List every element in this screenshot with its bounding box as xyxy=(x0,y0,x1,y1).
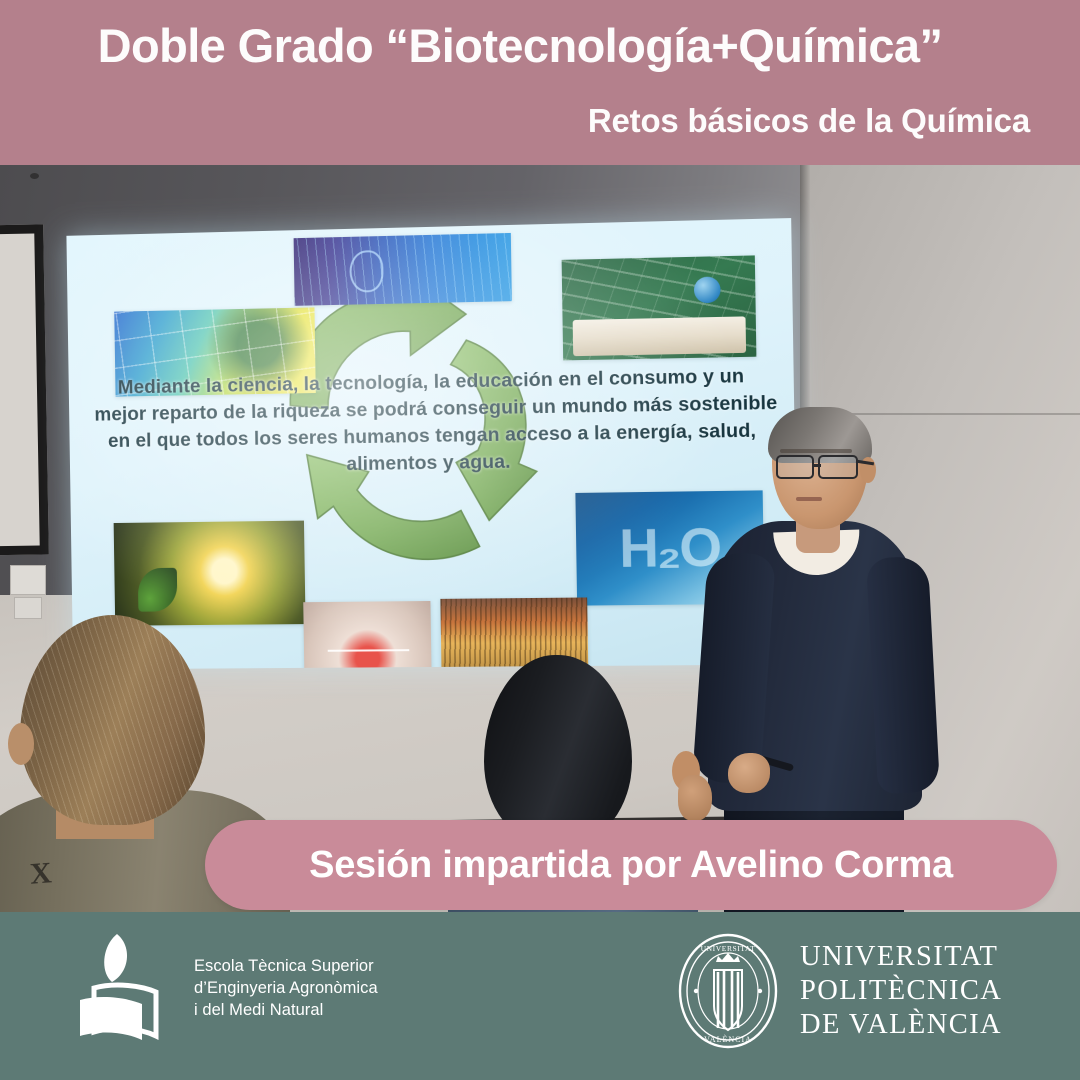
book-leaf-icon xyxy=(72,930,172,1048)
upv-logo: UNIVERSITAT VALÈNCIA UNIVERSITAT POLITÈC… xyxy=(676,932,1002,1050)
projected-slide: H₂O Mediante la ciencia, la tecnología, … xyxy=(66,218,798,669)
speaker-glasses-left-lens xyxy=(776,455,814,479)
audience-left-ear xyxy=(8,723,34,765)
svg-text:VALÈNCIA: VALÈNCIA xyxy=(704,1034,752,1044)
svg-text:UNIVERSITAT: UNIVERSITAT xyxy=(701,944,756,953)
page-subtitle: Retos básicos de la Química xyxy=(0,104,1030,137)
speaker-glasses-bridge xyxy=(812,464,821,467)
hands-heart-image xyxy=(303,601,432,669)
footer-bar: Escola Tècnica Superior d’Enginyeria Agr… xyxy=(0,912,1080,1080)
etsiamn-logo: Escola Tècnica Superior d’Enginyeria Agr… xyxy=(72,930,378,1048)
etsiamn-line-2: d’Enginyeria Agronòmica xyxy=(194,978,378,1000)
lightbulb-plant-image xyxy=(114,521,306,626)
audience-center-head xyxy=(484,655,632,845)
header-banner: Doble Grado “Biotecnología+Química” Reto… xyxy=(0,0,1080,165)
poster-canvas: Doble Grado “Biotecnología+Química” Reto… xyxy=(0,0,1080,1080)
wall-socket xyxy=(10,565,46,595)
speaker-brow xyxy=(780,449,852,453)
upv-line-1: UNIVERSITAT xyxy=(800,940,1002,974)
audience-left-head xyxy=(20,615,205,825)
speaker-name-label: Sesión impartida por Avelino Corma xyxy=(309,846,953,884)
audience-center-hand xyxy=(678,775,712,821)
speaker-glasses-right-lens xyxy=(818,455,858,479)
upv-name: UNIVERSITAT POLITÈCNICA DE VALÈNCIA xyxy=(800,940,1002,1042)
shirt-x-marking: X xyxy=(29,856,53,891)
page-title: Doble Grado “Biotecnología+Química” xyxy=(0,22,1040,69)
speaker-hand xyxy=(728,753,770,793)
chalkboard-equations-image xyxy=(562,255,757,360)
upv-line-3: DE VALÈNCIA xyxy=(800,1008,1002,1042)
slide-text-block: Mediante la ciencia, la tecnología, la e… xyxy=(94,363,771,483)
etsiamn-name: Escola Tècnica Superior d’Enginyeria Agr… xyxy=(194,956,378,1022)
etsiamn-line-3: i del Medi Natural xyxy=(194,1000,378,1022)
lecture-photograph: H₂O Mediante la ciencia, la tecnología, … xyxy=(0,165,1080,912)
speaker-mouth xyxy=(796,497,822,501)
upv-seal-icon: UNIVERSITAT VALÈNCIA xyxy=(676,932,780,1050)
upv-line-2: POLITÈCNICA xyxy=(800,974,1002,1008)
speaker-right-arm xyxy=(866,556,940,795)
etsiamn-line-1: Escola Tècnica Superior xyxy=(194,956,378,978)
wall-picture-frame xyxy=(0,224,49,555)
neuroscience-image xyxy=(294,233,512,306)
wall-smudge xyxy=(30,173,39,179)
speaker-name-banner: Sesión impartida por Avelino Corma xyxy=(205,820,1057,910)
